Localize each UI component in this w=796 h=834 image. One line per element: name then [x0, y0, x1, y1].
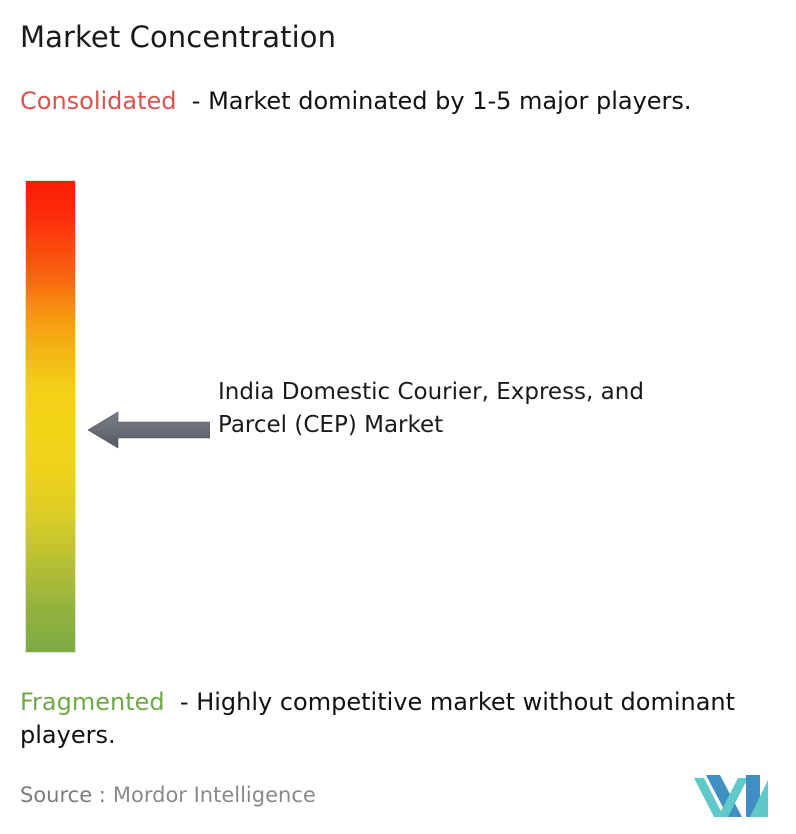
mordor-intelligence-logo-icon — [694, 770, 768, 820]
market-callout-label: India Domestic Courier, Express, and Par… — [218, 376, 648, 442]
legend-consolidated: Consolidated - Market dominated by 1-5 m… — [20, 85, 776, 118]
legend-consolidated-term: Consolidated — [20, 87, 177, 115]
source-label: Source : — [20, 783, 106, 807]
source-value: Mordor Intelligence — [113, 783, 316, 807]
left-arrow-icon — [88, 408, 210, 452]
legend-fragmented-term: Fragmented — [20, 688, 165, 716]
page-title: Market Concentration — [20, 18, 336, 56]
legend-consolidated-description: - Market dominated by 1-5 major players. — [192, 87, 692, 115]
concentration-gradient-bar — [26, 181, 75, 652]
source-attribution: Source :Mordor Intelligence — [20, 781, 316, 809]
legend-fragmented: Fragmented - Highly competitive market w… — [20, 686, 786, 752]
